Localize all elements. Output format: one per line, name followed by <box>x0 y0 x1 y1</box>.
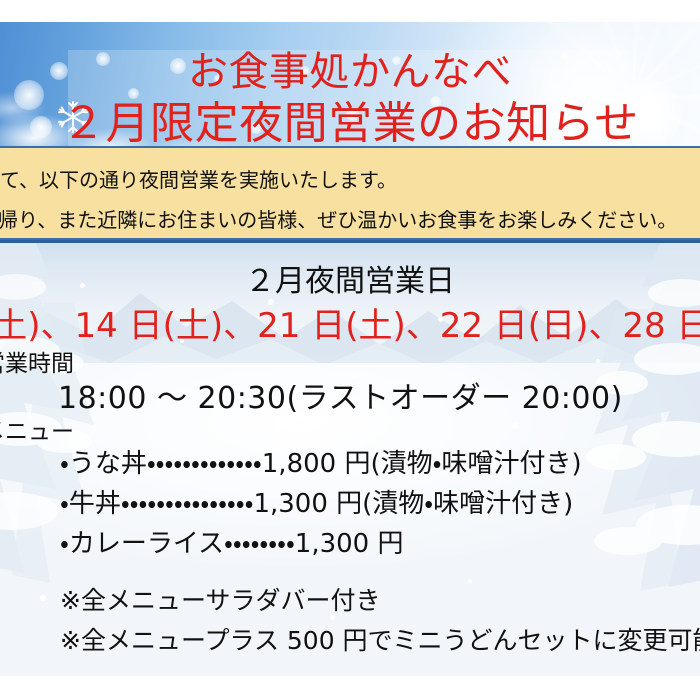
night-business-days-list: 日(土)、14 日(土)、21 日(土)、22 日(日)、28 日(土 <box>0 298 700 347</box>
poster-body: ２月夜間営業日 日(土)、14 日(土)、21 日(土)、22 日(日)、28 … <box>0 240 700 676</box>
menu-item: ・カレーライス・・・・・・・・1,300 円 <box>60 523 403 560</box>
headline-line-2: ２月限定夜間営業のお知らせ <box>0 92 700 146</box>
night-business-days-title: ２月夜間営業日 <box>0 256 700 300</box>
notice-banner: 定日にて、以下の通り夜間営業を実施いたします。 観光の帰り、また近隣にお住まいの… <box>0 146 700 240</box>
footnote: ※全メニュープラス 500 円でミニうどんセットに変更可能 <box>60 621 700 657</box>
header-banner: お食事処かんなべ ２月限定夜間営業のお知らせ <box>0 22 700 146</box>
menu-label: メニュー <box>0 412 74 446</box>
headline-line-1: お食事処かんなべ <box>0 46 700 92</box>
footnote: ※全メニューサラダバー付き <box>60 581 380 617</box>
notice-line-2: 観光の帰り、また近隣にお住まいの皆様、ぜひ温かいお食事をお楽しみください。 <box>0 204 677 233</box>
menu-item: ・うな丼・・・・・・・・・・・・・1,800 円(漬物・味噌汁付き) <box>60 443 582 480</box>
top-white-margin <box>0 0 700 22</box>
menu-item: ・牛丼・・・・・・・・・・・・・・・1,300 円(漬物・味噌汁付き) <box>60 483 573 520</box>
bottom-white-margin <box>0 676 700 700</box>
notice-line-1: 定日にて、以下の通り夜間営業を実施いたします。 <box>0 164 397 193</box>
business-hours-value: 18:00 ～ 20:30(ラストオーダー 20:00) <box>58 373 623 417</box>
poster-headline: お食事処かんなべ ２月限定夜間営業のお知らせ <box>0 46 700 146</box>
poster-root: お食事処かんなべ ２月限定夜間営業のお知らせ 定日にて、以下の通り夜間営業を実施… <box>0 0 700 700</box>
